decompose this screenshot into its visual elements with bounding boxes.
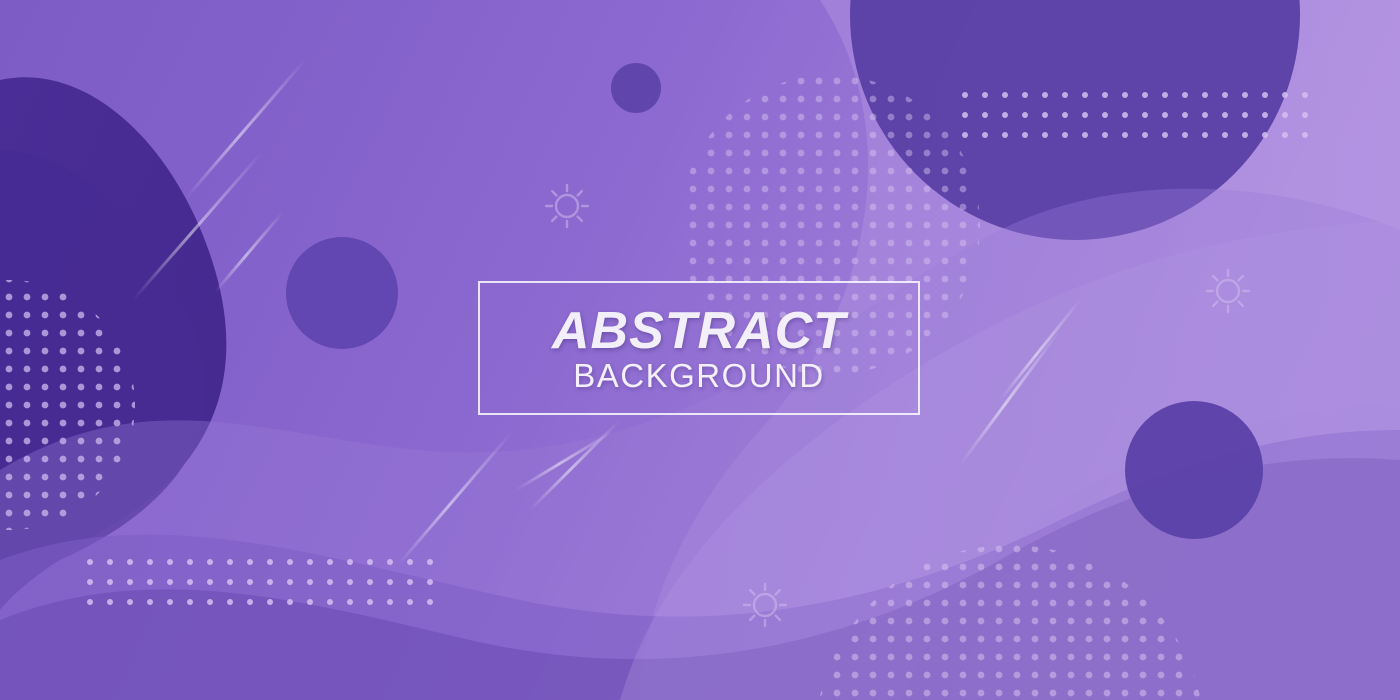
- headline-frame: ABSTRACT BACKGROUND: [478, 281, 920, 415]
- streak-line-3: [215, 212, 283, 292]
- streak-line-1: [186, 60, 305, 198]
- circle-left-mid: [286, 237, 398, 349]
- sunburst-icon-left: [546, 185, 588, 227]
- circle-top-center: [611, 63, 661, 113]
- page-title: ABSTRACT: [552, 305, 846, 357]
- page-subtitle: BACKGROUND: [573, 359, 825, 392]
- circle-bottom-right: [1125, 401, 1263, 539]
- abstract-background-canvas: ABSTRACT BACKGROUND: [0, 0, 1400, 700]
